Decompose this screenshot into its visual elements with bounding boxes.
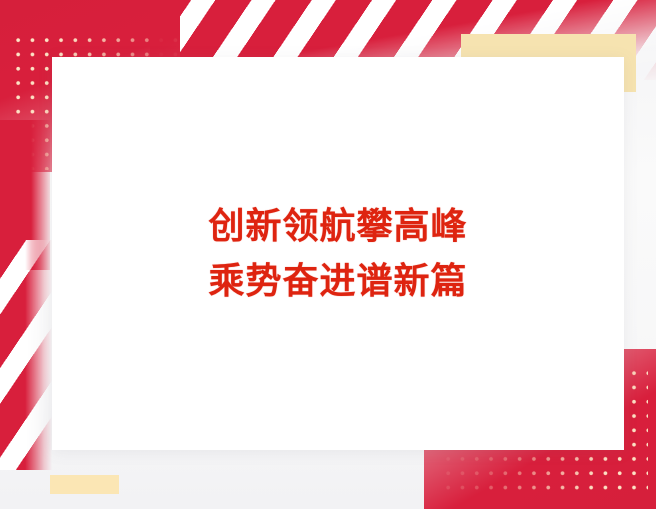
bottom-left-gold-bar xyxy=(50,475,119,494)
headline-line-2: 乘势奋进谱新篇 xyxy=(208,254,467,309)
gold-bracket-horizontal xyxy=(461,34,636,57)
card-inner: 创新领航攀高峰 乘势奋进谱新篇 xyxy=(52,57,624,450)
headline-line-1: 创新领航攀高峰 xyxy=(208,199,467,254)
headline: 创新领航攀高峰 乘势奋进谱新篇 xyxy=(208,199,467,308)
content-card: 创新领航攀高峰 乘势奋进谱新篇 xyxy=(52,57,624,450)
slide-canvas: 创新领航攀高峰 乘势奋进谱新篇 xyxy=(0,0,656,509)
left-diagonal-stripes xyxy=(0,240,52,470)
